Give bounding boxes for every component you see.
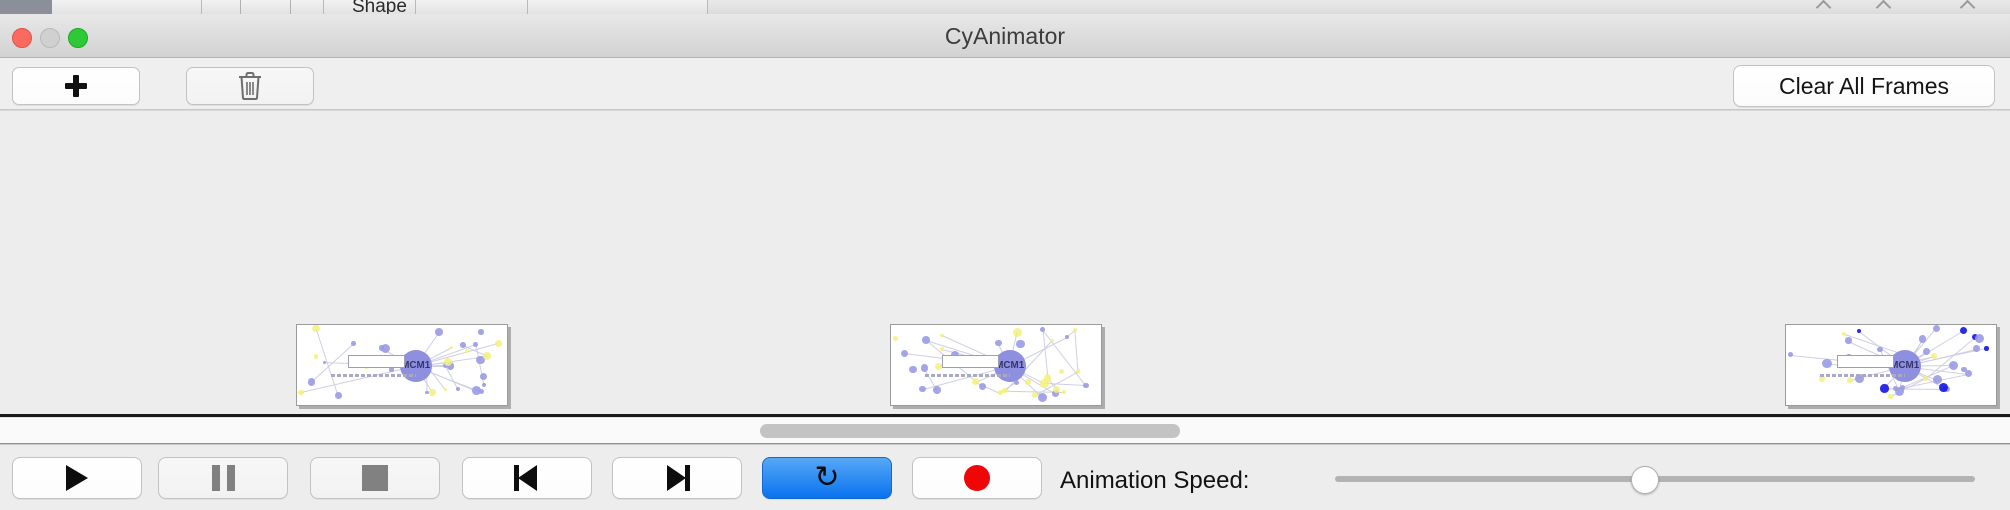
graph-node xyxy=(933,386,941,394)
graph-node xyxy=(1923,348,1930,355)
animation-speed-slider-thumb[interactable] xyxy=(1631,466,1659,494)
graph-caption xyxy=(331,374,416,377)
plus-icon xyxy=(65,75,87,97)
record-button[interactable] xyxy=(912,457,1042,499)
graph-caption xyxy=(925,374,1010,377)
graph-node xyxy=(444,388,448,392)
timeline-panel[interactable]: MCM1MCM1MCM1 12131415161718 Seconds xyxy=(0,110,2010,417)
graph-node xyxy=(429,389,435,395)
stop-button[interactable] xyxy=(310,457,440,499)
graph-annotation-box xyxy=(942,355,999,368)
graph-node xyxy=(298,390,303,395)
graph-node xyxy=(473,342,479,348)
background-window-strip: Shape xyxy=(0,0,2010,14)
graph-node xyxy=(893,336,898,341)
timeline-scrollbar[interactable] xyxy=(0,417,2010,444)
graph-node xyxy=(389,367,393,371)
graph-node xyxy=(1016,340,1024,348)
graph-node xyxy=(909,366,917,374)
graph-node xyxy=(1076,369,1080,373)
skip-to-start-button[interactable] xyxy=(462,457,592,499)
skip-to-end-icon xyxy=(664,465,690,491)
graph-node xyxy=(460,342,466,348)
graph-node xyxy=(323,361,326,364)
maximize-button[interactable] xyxy=(68,28,88,48)
graph-node xyxy=(979,383,986,390)
record-icon xyxy=(964,465,990,491)
loop-button[interactable]: ↻ xyxy=(762,457,892,499)
graph-node xyxy=(444,358,452,366)
graph-node xyxy=(482,383,486,387)
graph-edge xyxy=(301,366,416,393)
stop-icon xyxy=(362,465,388,491)
pause-button[interactable] xyxy=(158,457,288,499)
graph-node xyxy=(425,391,428,394)
graph-node xyxy=(1939,383,1948,392)
graph-node xyxy=(435,328,443,336)
play-button[interactable] xyxy=(12,457,142,499)
graph-node xyxy=(1933,325,1940,332)
graph-node xyxy=(1062,390,1066,394)
frame-thumbnail-1[interactable]: MCM1 xyxy=(296,324,508,406)
graph-node xyxy=(314,354,318,358)
graph-annotation-box xyxy=(348,355,405,368)
graph-node xyxy=(1880,384,1888,392)
graph-node xyxy=(1973,345,1980,352)
window-title: CyAnimator xyxy=(0,14,2010,58)
graph-node xyxy=(472,386,481,395)
clear-all-frames-label: Clear All Frames xyxy=(1779,73,1949,100)
graph-node xyxy=(1975,334,1984,343)
graph-node xyxy=(1788,352,1793,357)
graph-node xyxy=(1013,328,1022,337)
graph-node xyxy=(1038,393,1047,402)
clear-all-frames-button[interactable]: Clear All Frames xyxy=(1733,65,1995,107)
graph-node xyxy=(1065,335,1069,339)
graph-node xyxy=(1847,377,1853,383)
graph-node xyxy=(1025,379,1031,385)
title-bar: CyAnimator xyxy=(0,14,2010,58)
graph-node xyxy=(901,350,908,357)
graph-node xyxy=(335,392,342,399)
graph-node xyxy=(919,386,925,392)
loop-icon: ↻ xyxy=(814,463,839,493)
animation-speed-label: Animation Speed: xyxy=(1060,467,1249,495)
graph-annotation-box xyxy=(1837,355,1894,368)
close-button[interactable] xyxy=(12,28,32,48)
toolbar: Clear All Frames xyxy=(0,58,2010,110)
graph-node xyxy=(921,364,928,371)
minimize-button[interactable] xyxy=(40,28,60,48)
graph-node xyxy=(1083,383,1089,389)
graph-node xyxy=(922,336,930,344)
graph-node xyxy=(450,346,453,349)
graph-node xyxy=(351,341,356,346)
graph-node xyxy=(1073,328,1077,332)
pause-icon xyxy=(212,465,235,491)
delete-frame-button[interactable] xyxy=(186,67,314,105)
graph-node xyxy=(1949,361,1958,370)
graph-node xyxy=(1960,327,1967,334)
graph-node xyxy=(1877,347,1883,353)
graph-node xyxy=(1857,329,1861,333)
graph-node xyxy=(483,352,491,360)
background-window-label: Shape xyxy=(352,0,407,14)
graph-node xyxy=(1040,379,1049,388)
graph-edge xyxy=(1075,331,1079,373)
graph-node xyxy=(995,340,1001,346)
graph-node xyxy=(312,325,319,332)
graph-node xyxy=(1002,388,1008,394)
skip-to-start-icon xyxy=(514,465,540,491)
graph-caption xyxy=(1820,374,1905,377)
scrollbar-thumb[interactable] xyxy=(760,424,1180,438)
graph-node xyxy=(456,387,460,391)
skip-to-end-button[interactable] xyxy=(612,457,742,499)
graph-node xyxy=(495,340,502,347)
graph-node xyxy=(1822,359,1831,368)
playback-control-bar: ↻ Animation Speed: xyxy=(0,444,2010,510)
traffic-light-group xyxy=(12,28,88,48)
graph-node xyxy=(465,349,469,353)
play-icon xyxy=(66,465,88,491)
trash-icon xyxy=(237,71,263,101)
frame-thumbnail-3[interactable]: MCM1 xyxy=(1785,324,1997,406)
graph-node xyxy=(1845,337,1851,343)
graph-node xyxy=(480,373,487,380)
graph-node xyxy=(1923,376,1928,381)
graph-node xyxy=(308,378,316,386)
graph-node xyxy=(1984,346,1988,350)
cyanimator-window: Shape CyAnimator Clear All Frames xyxy=(0,0,2010,510)
graph-node xyxy=(1050,339,1054,343)
frame-thumbnail-2[interactable]: MCM1 xyxy=(890,324,1102,406)
graph-node xyxy=(935,363,942,370)
graph-node xyxy=(1059,369,1064,374)
graph-node xyxy=(478,329,484,335)
graph-node xyxy=(1888,394,1893,399)
graph-node xyxy=(379,345,385,351)
add-frame-button[interactable] xyxy=(12,67,140,105)
